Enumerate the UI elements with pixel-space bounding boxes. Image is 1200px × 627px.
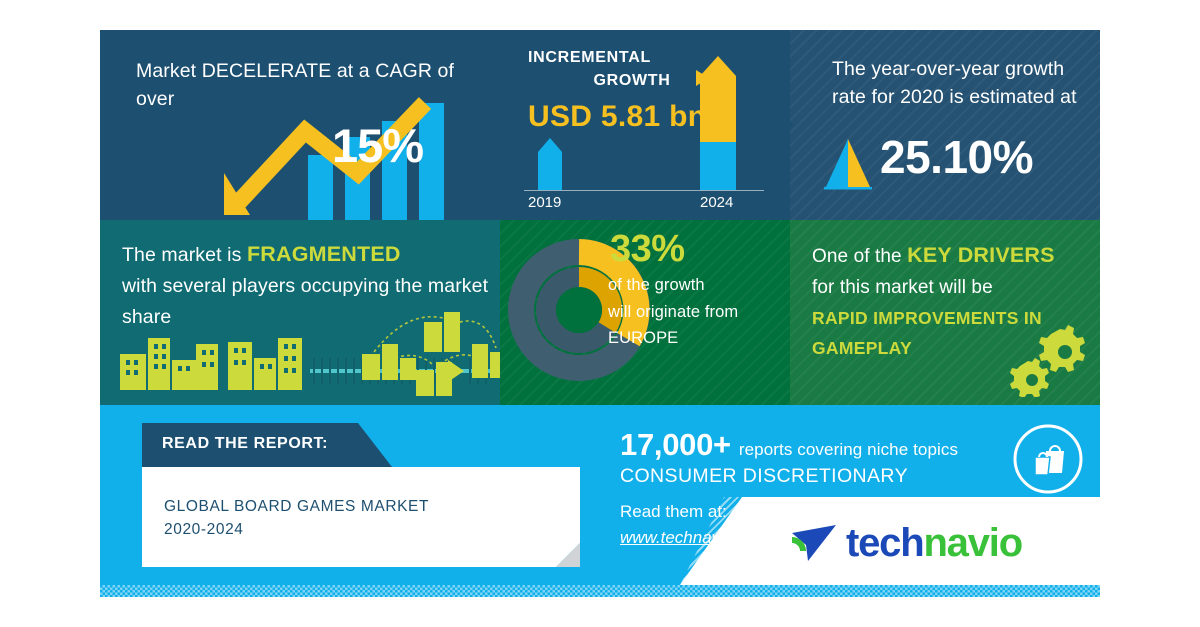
europe-line1: of the growth (608, 276, 705, 294)
panel-footer: READ THE REPORT: GLOBAL BOARD GAMES MARK… (100, 405, 1100, 597)
sector-label: CONSUMER DISCRETIONARY (620, 465, 1040, 488)
reports-count: 17,000+ (620, 427, 731, 462)
key-drivers-line2: for this market will be (812, 277, 993, 298)
key-drivers-highlight: KEY DRIVERS (907, 243, 1055, 267)
yoy-description: The year-over-year growth rate for 2020 … (832, 56, 1082, 111)
report-title: GLOBAL BOARD GAMES MARKET (164, 495, 564, 518)
report-card[interactable]: GLOBAL BOARD GAMES MARKET 2020-2024 (142, 467, 580, 567)
report-card-text: GLOBAL BOARD GAMES MARKET 2020-2024 (164, 495, 564, 542)
logo-text-navio: navio (923, 521, 1021, 565)
technavio-wordmark: technavio (846, 521, 1022, 566)
europe-line2: will originate from (608, 303, 738, 321)
panel-europe-share: 33% of the growth will originate from EU… (500, 220, 790, 405)
shopping-bags-icon (1012, 423, 1084, 495)
axis-label-2019: 2019 (528, 194, 561, 211)
gears-icon (1008, 325, 1086, 397)
europe-line3: EUROPE (608, 329, 678, 347)
key-drivers-driver-line2: GAMEPLAY (812, 338, 912, 358)
europe-description: of the growth will originate from EUROPE (608, 272, 788, 352)
reports-caption: reports covering niche topics (731, 440, 958, 459)
paper-plane-icon (788, 519, 840, 567)
infographic-root: Market DECELERATE at a CAGR of over 15% … (0, 0, 1200, 627)
logo-text-tech: tech (846, 521, 923, 565)
fragmented-lead: The market is (122, 244, 247, 266)
fragmented-highlight: FRAGMENTED (247, 242, 401, 266)
footer-dot-texture (100, 585, 1100, 597)
panel-key-drivers: One of the KEY DRIVERS for this market w… (790, 220, 1100, 405)
incremental-growth-bars-icon (524, 52, 784, 192)
chart-axis-line (524, 190, 764, 191)
europe-percent: 33% (610, 228, 685, 271)
cagr-value: 15% (332, 118, 423, 173)
key-drivers-lead: One of the (812, 246, 907, 267)
yoy-value: 25.10% (880, 130, 1033, 184)
axis-label-2024: 2024 (700, 194, 733, 211)
panel-incremental-growth: INCREMENTAL GROWTH USD 5.81 bn 2019 2024 (500, 30, 790, 220)
panel-yoy-growth: The year-over-year growth rate for 2020 … (790, 30, 1100, 220)
reports-count-row: 17,000+reports covering niche topics (620, 427, 1040, 463)
panel-fragmented-market: The market is FRAGMENTED with several pl… (100, 220, 500, 405)
triangle-up-icon (820, 135, 876, 191)
ribbon-label: READ THE REPORT: (162, 435, 328, 453)
report-period: 2020-2024 (164, 518, 564, 541)
technavio-logo: technavio (788, 519, 1022, 567)
panel-cagr: Market DECELERATE at a CAGR of over 15% (100, 30, 500, 220)
read-the-report-ribbon: READ THE REPORT: (142, 423, 392, 467)
technavio-logo-area: technavio (680, 497, 1100, 585)
fragmented-network-icon (358, 300, 500, 400)
